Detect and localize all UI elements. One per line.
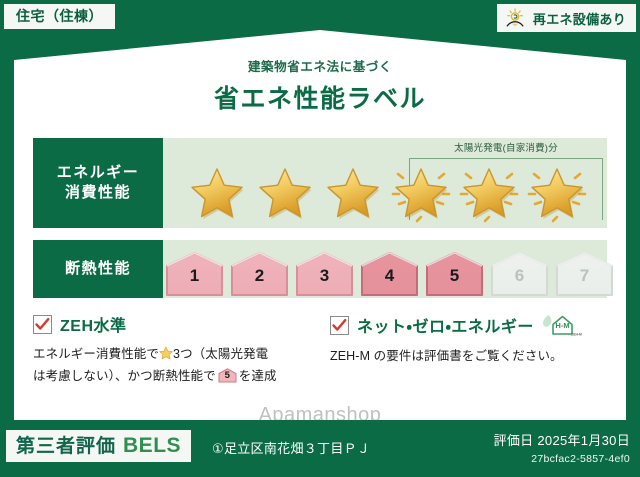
insulation-grade-number: 1 [163, 267, 226, 284]
insulation-grade-number: 7 [553, 267, 616, 284]
footer-meta: 評価日 2025年1月30日 27bcfac2-5857-4ef0 [494, 430, 630, 465]
renewable-equipment-badge: 再エネ設備あり [497, 4, 636, 32]
solar-bracket-caption: 太陽光発電(自家消費)分 [393, 140, 619, 154]
building-type-badge: 住宅（住棟） [4, 4, 115, 29]
solar-star-icon [391, 164, 451, 226]
zeh-body-part3: は考慮しない）、かつ断熱性能で [33, 369, 216, 383]
bels-en-label: BELS [123, 435, 181, 456]
svg-text:ZEH-M: ZEH-M [571, 333, 582, 337]
check-icon [330, 316, 349, 335]
bels-jp-label: 第三者評価 [16, 437, 116, 456]
zeh-body-part4: を達成 [239, 369, 277, 383]
evaluation-date: 評価日 2025年1月30日 [494, 430, 630, 449]
title-subtitle: 建築物省エネ法に基づく [0, 56, 640, 75]
zeh-body-part1: エネルギー消費性能で [33, 347, 159, 361]
inline-house-number: 5 [218, 371, 237, 381]
insulation-grade-row: 1234567 [163, 251, 618, 298]
insulation-grade-number: 4 [358, 267, 421, 284]
net-zero-energy-note: ネット・ゼロ・エネルギー H-M ZEH-M ZEH-M の要件は評価書をご覧く… [330, 312, 607, 387]
zeh-standard-title: ZEH水準 [60, 312, 127, 336]
solar-star-icon [459, 164, 519, 226]
insulation-grade-number: 2 [228, 267, 291, 284]
energy-panel-value: 太陽光発電(自家消費)分 [163, 138, 607, 228]
footer-bar: 第三者評価 BELS ①足立区南花畑３丁目ＰＪ 評価日 2025年1月30日 2… [0, 420, 640, 477]
insulation-performance-panel: 断熱性能 1234567 [33, 240, 607, 298]
solar-star-icon [527, 164, 587, 226]
zeh-standard-body: エネルギー消費性能で 3つ（太陽光発電 は考慮しない）、かつ断熱性能で 5 を達… [33, 344, 310, 387]
insulation-grade-1: 1 [163, 251, 226, 298]
energy-key-line2: 消費性能 [65, 183, 131, 203]
insulation-panel-value: 1234567 [163, 240, 607, 298]
insulation-key-label: 断熱性能 [65, 259, 131, 279]
bels-badge: 第三者評価 BELS [6, 430, 191, 462]
insulation-grade-number: 6 [488, 267, 551, 284]
net-zero-header: ネット・ゼロ・エネルギー H-M ZEH-M [330, 312, 607, 338]
property-address: ①足立区南花畑３丁目ＰＪ [212, 438, 370, 457]
zeh-notes: ZEH水準 エネルギー消費性能で 3つ（太陽光発電 は考慮しない）、かつ断熱性能… [33, 312, 607, 387]
svg-text:H-M: H-M [555, 321, 569, 330]
energy-key-line1: エネルギー [57, 163, 140, 183]
energy-panel-key: エネルギー 消費性能 [33, 138, 163, 228]
star-rating-row [187, 164, 587, 226]
insulation-panel-key: 断熱性能 [33, 240, 163, 298]
zeh-standard-header: ZEH水準 [33, 312, 310, 336]
title-main: 省エネ性能ラベル [0, 79, 640, 115]
insulation-grade-number: 5 [423, 267, 486, 284]
insulation-grade-4: 4 [358, 251, 421, 298]
energy-performance-label: 住宅（住棟） 再エネ設備あり 建築物省エネ法に基づく 省エネ性能ラベル [0, 0, 640, 477]
insulation-grade-7: 7 [553, 251, 616, 298]
energy-consumption-panel: エネルギー 消費性能 太陽光発電(自家消費)分 [33, 138, 607, 228]
zeh-m-house-logo: H-M ZEH-M [542, 312, 582, 338]
evaluation-id: 27bcfac2-5857-4ef0 [494, 453, 630, 465]
inline-house-icon: 5 [218, 368, 237, 383]
building-type-label: 住宅（住棟） [16, 8, 103, 24]
insulation-grade-number: 3 [293, 267, 356, 284]
sun-solar-icon [505, 8, 527, 28]
energy-star-icon [187, 164, 247, 226]
insulation-grade-3: 3 [293, 251, 356, 298]
energy-star-icon [255, 164, 315, 226]
net-zero-body: ZEH-M の要件は評価書をご覧ください。 [330, 346, 607, 368]
net-zero-title: ネット・ゼロ・エネルギー [357, 313, 534, 337]
renewable-badge-label: 再エネ設備あり [533, 9, 626, 28]
insulation-grade-2: 2 [228, 251, 291, 298]
inline-star-icon [159, 346, 173, 360]
check-icon [33, 315, 52, 334]
page-title: 建築物省エネ法に基づく 省エネ性能ラベル [0, 56, 640, 115]
insulation-grade-6: 6 [488, 251, 551, 298]
insulation-grade-5: 5 [423, 251, 486, 298]
energy-star-icon [323, 164, 383, 226]
zeh-standard-note: ZEH水準 エネルギー消費性能で 3つ（太陽光発電 は考慮しない）、かつ断熱性能… [33, 312, 310, 387]
zeh-body-part2: 3つ（太陽光発電 [173, 347, 268, 361]
